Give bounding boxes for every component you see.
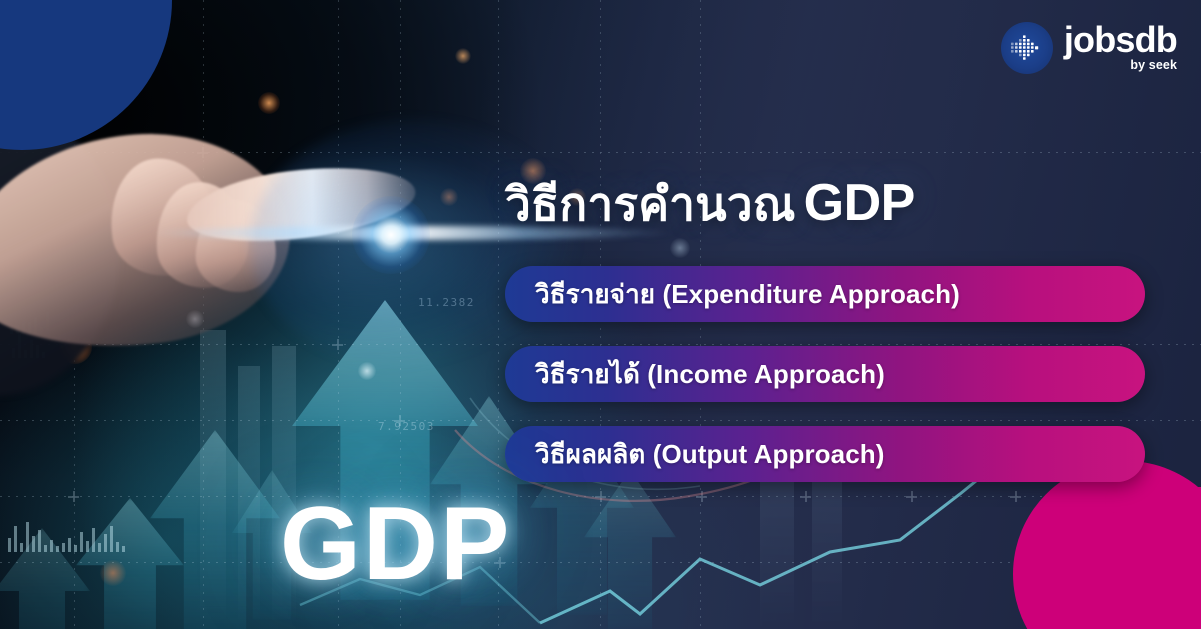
jobsdb-wordmark: jobsdb xyxy=(1064,22,1177,58)
pill-label: วิธีผลผลิต (Output Approach) xyxy=(535,434,885,475)
micro-number-2: 7.92503 xyxy=(378,420,435,433)
pill-output-approach[interactable]: วิธีผลผลิต (Output Approach) xyxy=(505,426,1145,482)
page-title: วิธีการคำนวณGDP xyxy=(505,168,915,241)
decorative-pill-bottom-right xyxy=(1105,487,1201,513)
jobsdb-tagline: by seek xyxy=(1064,59,1177,72)
lens-flare-core xyxy=(352,196,430,274)
pill-label: วิธีรายได้ (Income Approach) xyxy=(535,354,885,395)
gdp-hero-text: GDP xyxy=(280,485,511,604)
gdp-info-banner: 11.2382 7.92503 xyxy=(0,0,1201,629)
pill-income-approach[interactable]: วิธีรายได้ (Income Approach) xyxy=(505,346,1145,402)
jobsdb-logo[interactable]: jobsdb by seek xyxy=(1001,22,1177,74)
pill-expenditure-approach[interactable]: วิธีรายจ่าย (Expenditure Approach) xyxy=(505,266,1145,322)
jobsdb-arrow-dot-icon xyxy=(1001,22,1053,74)
pill-label: วิธีรายจ่าย (Expenditure Approach) xyxy=(535,274,960,315)
page-title-english: GDP xyxy=(804,174,915,232)
page-title-thai: วิธีการคำนวณ xyxy=(505,178,796,230)
